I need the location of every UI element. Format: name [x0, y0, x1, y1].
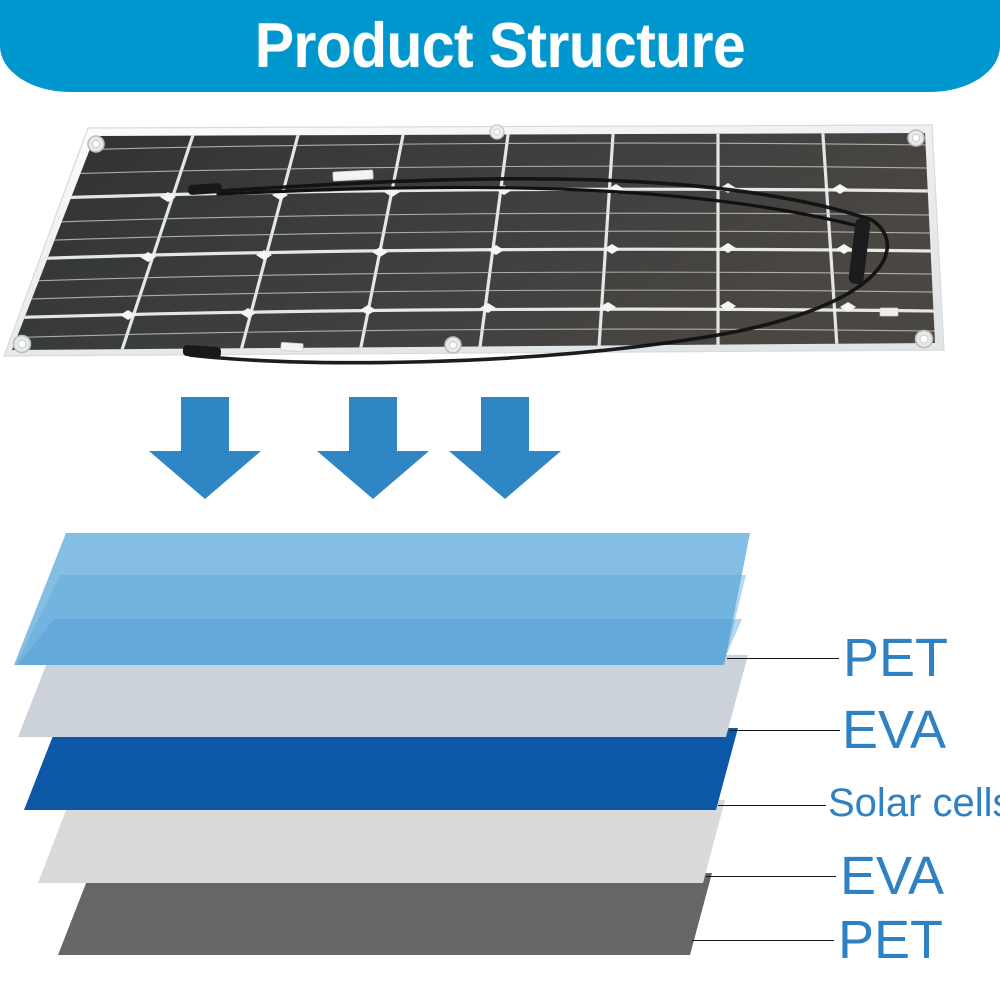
solar-panel-photo [0, 100, 1000, 385]
solar-panel-illustration [0, 100, 1000, 385]
arrow-down-2 [313, 393, 433, 503]
header-banner: Product Structure [0, 0, 1000, 92]
leader-line-eva-bottom [706, 876, 836, 877]
leader-line-eva-top [730, 730, 840, 731]
leader-line-solar-cells [718, 805, 826, 806]
label-pet-top: PET [843, 631, 948, 685]
leader-line-pet-top [727, 658, 839, 659]
leader-line-pet-bottom [692, 940, 834, 941]
arrow-down-3 [445, 393, 565, 503]
label-eva-bottom: EVA [840, 849, 944, 903]
label-solar-cells: Solar cells [828, 783, 1000, 823]
cell-grid [0, 120, 1000, 362]
arrow-down-1 [145, 393, 265, 503]
arrow-group [0, 385, 1000, 520]
page-title: Product Structure [35, 0, 965, 92]
label-eva-top: EVA [842, 703, 946, 757]
product-structure-infographic: Product Structure [0, 0, 1000, 1000]
layer-labels: PET EVA Solar cells EVA PET [0, 515, 1000, 975]
label-pet-bottom: PET [838, 913, 943, 967]
